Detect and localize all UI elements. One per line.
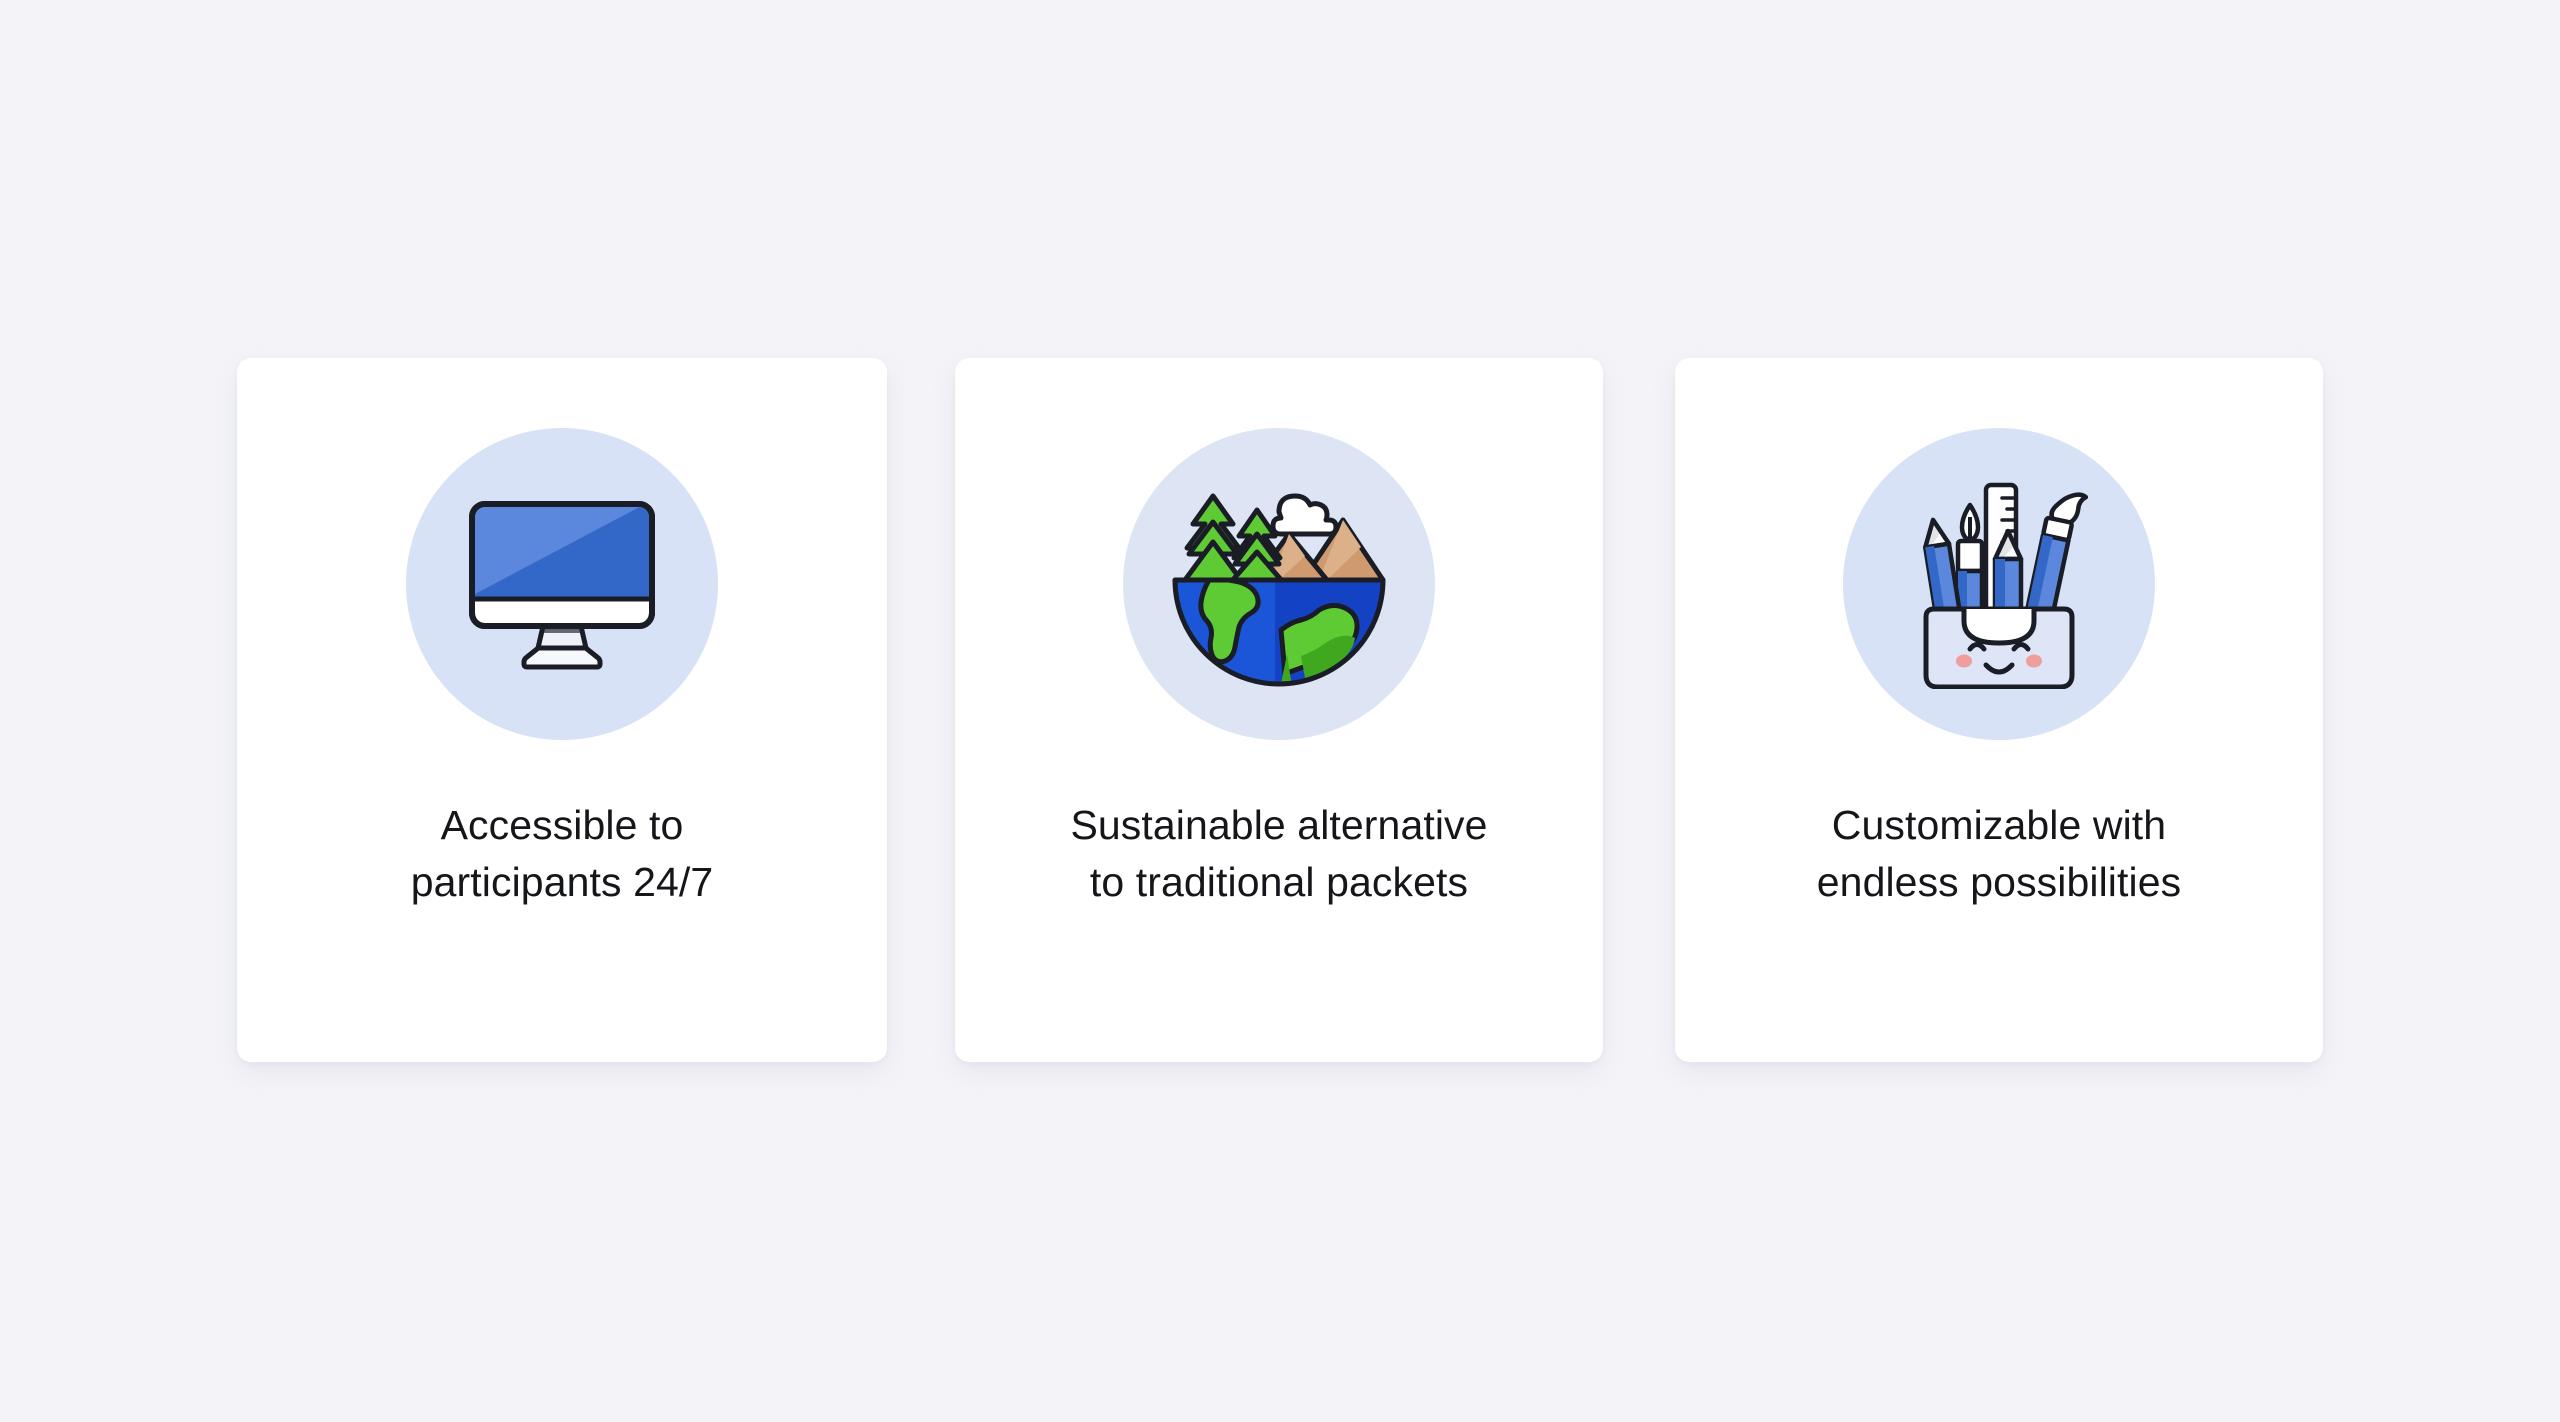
card-caption-sustainable: Sustainable alternative to traditional p… <box>955 802 1603 907</box>
earth-nature-icon <box>1167 476 1391 692</box>
desktop-monitor-icon <box>462 494 662 674</box>
feature-card-sustainable[interactable]: Sustainable alternative to traditional p… <box>955 358 1603 1062</box>
feature-cards-row: Accessible to participants 24/7 <box>0 0 2560 1422</box>
icon-circle-customizable <box>1843 428 2155 740</box>
caption-line-1: Accessible to <box>263 802 861 850</box>
caption-line-1: Customizable with <box>1701 802 2297 850</box>
icon-circle-accessible <box>406 428 718 740</box>
page-root: Accessible to participants 24/7 <box>0 0 2560 1422</box>
caption-line-2: participants 24/7 <box>263 859 861 907</box>
icon-circle-sustainable <box>1123 428 1435 740</box>
caption-line-2: endless possibilities <box>1701 859 2297 907</box>
caption-line-2: to traditional packets <box>981 859 1577 907</box>
feature-card-accessible[interactable]: Accessible to participants 24/7 <box>237 358 887 1062</box>
feature-card-customizable[interactable]: Customizable with endless possibilities <box>1675 358 2323 1062</box>
card-caption-customizable: Customizable with endless possibilities <box>1675 802 2323 907</box>
pen-cup-icon <box>1908 479 2090 689</box>
card-caption-accessible: Accessible to participants 24/7 <box>237 802 887 907</box>
caption-line-1: Sustainable alternative <box>981 802 1577 850</box>
